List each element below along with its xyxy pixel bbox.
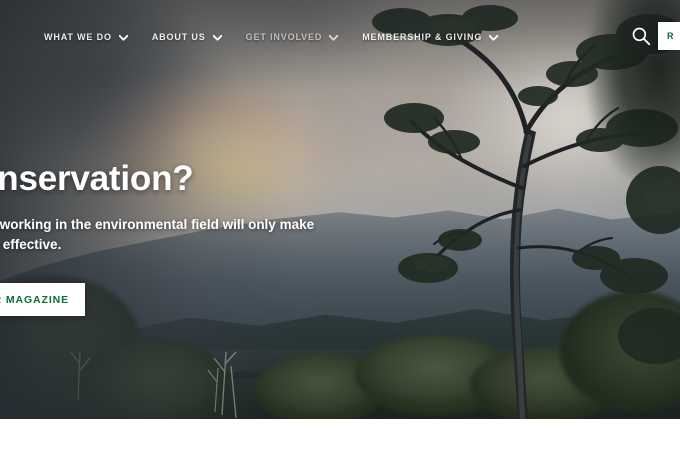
chevron-down-icon: [213, 28, 222, 46]
page-title: o Is Conservation?: [0, 160, 442, 199]
hero-subhead: arriers for women working in the environ…: [0, 215, 407, 257]
primary-navigation: WHAT WE DO ABOUT US GET INVOLVED MEMBERS…: [44, 28, 498, 46]
header-cta-label: R: [667, 31, 674, 41]
search-icon[interactable]: [631, 26, 651, 46]
nav-item-get-involved[interactable]: GET INVOLVED: [246, 28, 339, 46]
nav-item-label: WHAT WE DO: [44, 32, 112, 42]
nav-item-membership-and-giving[interactable]: MEMBERSHIP & GIVING: [362, 28, 498, 46]
browser-viewport: WHAT WE DO ABOUT US GET INVOLVED MEMBERS…: [0, 0, 680, 460]
nav-item-about-us[interactable]: ABOUT US: [152, 28, 222, 46]
hero-subhead-line-2: n as a whole more effective.: [0, 237, 61, 252]
hero-copy: o Is Conservation? arriers for women wor…: [0, 160, 442, 256]
chevron-down-icon: [119, 28, 128, 46]
chevron-down-icon: [329, 28, 338, 46]
hero-cta-button[interactable]: OUR MAGAZINE: [0, 283, 85, 316]
hero-cta-label: OUR MAGAZINE: [0, 294, 69, 306]
nav-item-what-we-do[interactable]: WHAT WE DO: [44, 28, 128, 46]
nav-item-label: GET INVOLVED: [246, 32, 323, 42]
page-content-below-hero: [0, 419, 680, 460]
chevron-down-icon: [489, 28, 498, 46]
nav-item-label: ABOUT US: [152, 32, 206, 42]
header-cta-button[interactable]: R: [658, 22, 680, 50]
hero-subhead-line-1: arriers for women working in the environ…: [0, 217, 314, 232]
nav-item-label: MEMBERSHIP & GIVING: [362, 32, 482, 42]
site-header: WHAT WE DO ABOUT US GET INVOLVED MEMBERS…: [0, 0, 680, 66]
